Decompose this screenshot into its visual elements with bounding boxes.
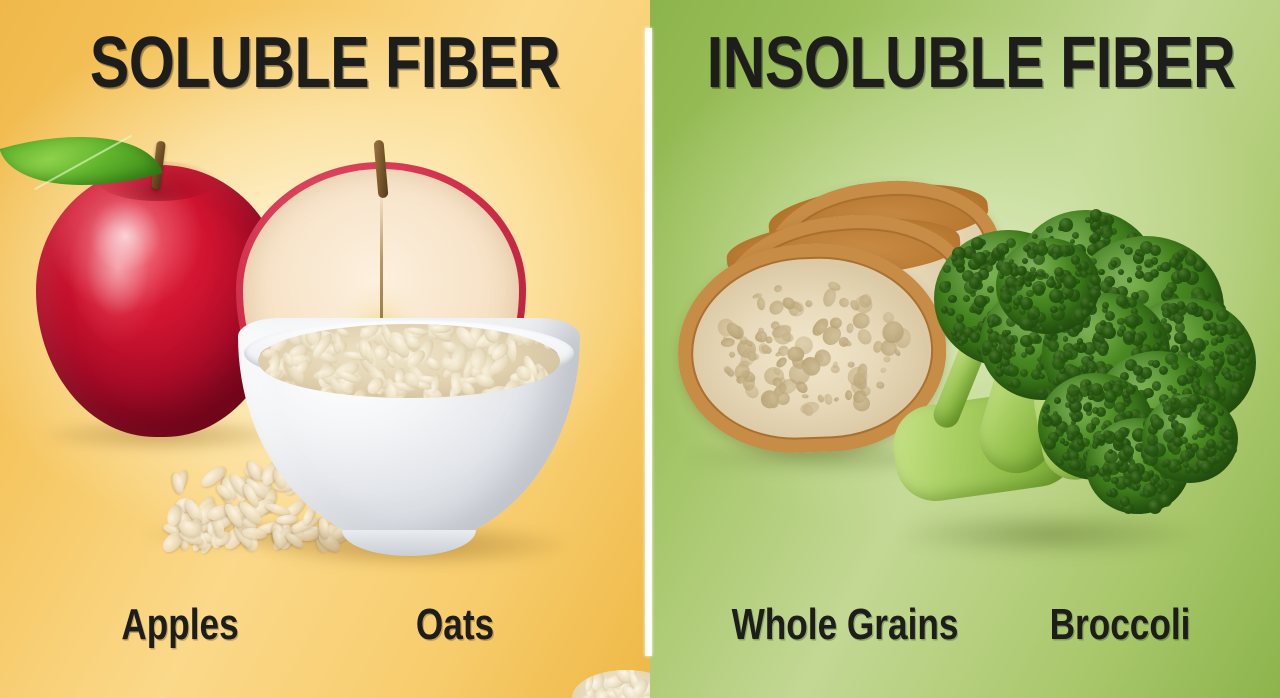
broccoli-bud — [1071, 255, 1080, 264]
label-whole-grains: Whole Grains — [713, 600, 977, 650]
broccoli-bud — [947, 308, 955, 316]
broccoli-bud — [1111, 477, 1118, 484]
broccoli-bud — [985, 263, 994, 272]
spoon-oatmeal-heap — [572, 670, 650, 698]
broccoli-bud — [1144, 259, 1154, 269]
broccoli-bud — [1034, 312, 1040, 318]
broccoli-bud — [1013, 298, 1021, 306]
fiber-comparison-infographic: SOLUBLE FIBER Apples Oats INSOLUBLE FIBE… — [0, 0, 1280, 698]
broccoli-bud — [1063, 350, 1073, 360]
broccoli-bud — [1150, 317, 1157, 324]
broccoli-bud — [1226, 444, 1235, 453]
broccoli-bud — [1130, 471, 1142, 483]
broccoli-bud — [1125, 315, 1138, 328]
broccoli-bud — [1055, 428, 1064, 437]
broccoli-bud — [1044, 438, 1056, 450]
broccoli-bud — [1150, 245, 1161, 256]
broccoli-bud — [1004, 305, 1012, 313]
broccoli-bud — [1171, 388, 1177, 394]
panel-divider — [645, 28, 652, 656]
broccoli-bud — [1174, 423, 1186, 435]
broccoli-bud — [1224, 373, 1232, 381]
broccoli-bud — [1058, 325, 1065, 332]
broccoli-bud — [1046, 226, 1053, 233]
broccoli-bud — [1171, 303, 1177, 309]
panel-soluble-fiber: SOLUBLE FIBER Apples Oats — [0, 0, 650, 698]
broccoli-bud — [1214, 455, 1223, 464]
broccoli-bud — [1088, 302, 1096, 310]
broccoli-bud — [989, 350, 1002, 363]
broccoli-bud — [1218, 409, 1225, 416]
broccoli-bud — [1244, 358, 1252, 366]
broccoli-bud — [1216, 309, 1229, 322]
label-apples: Apples — [92, 600, 268, 650]
oat-bit — [594, 690, 607, 698]
broccoli-bud — [1052, 253, 1059, 260]
broccoli-bud — [1123, 445, 1134, 456]
broccoli-bud — [1071, 414, 1079, 422]
broccoli-bud — [1020, 297, 1033, 310]
broccoli-bud — [1220, 425, 1227, 432]
broccoli-bud — [1067, 433, 1074, 440]
broccoli-bud — [1163, 404, 1175, 416]
broccoli-bud — [1037, 271, 1043, 277]
label-broccoli: Broccoli — [1012, 600, 1228, 650]
broccoli-bud — [1185, 443, 1192, 450]
broccoli-bud — [1120, 496, 1130, 506]
broccoli-bud — [1177, 301, 1185, 309]
panel-title-insoluble: INSOLUBLE FIBER — [707, 22, 1224, 104]
broccoli-bud — [1211, 338, 1219, 346]
broccoli-bud — [970, 332, 981, 343]
broccoli-bud — [1196, 448, 1209, 461]
broccoli-bud — [1049, 289, 1063, 303]
broccoli-bud — [1100, 225, 1113, 238]
broccoli-icon — [890, 212, 1226, 572]
broccoli-bud — [1098, 347, 1108, 357]
broccoli-bud — [1052, 357, 1065, 370]
broccoli-bud — [969, 277, 981, 289]
broccoli-bud — [1092, 442, 1099, 449]
broccoli-bud — [1067, 385, 1080, 398]
bread-crumb-hole — [831, 365, 840, 373]
broccoli-bud — [1202, 309, 1213, 320]
broccoli-bud — [1210, 329, 1217, 336]
broccoli-bud — [1157, 488, 1163, 494]
broccoli-bud — [1027, 249, 1037, 259]
broccoli-bud — [1143, 490, 1151, 498]
broccoli-bud — [1209, 430, 1215, 436]
broccoli-bud — [1104, 390, 1117, 403]
broccoli-bud — [1103, 475, 1110, 482]
broccoli-bud — [1171, 485, 1176, 490]
broccoli-bud — [1016, 266, 1026, 276]
broccoli-bud — [987, 328, 993, 334]
broccoli-bud — [1056, 459, 1063, 466]
bread-crumb-hole — [758, 327, 764, 333]
broccoli-bud — [1118, 269, 1124, 275]
broccoli-bud — [1133, 365, 1144, 376]
broccoli-bud — [1073, 343, 1080, 350]
broccoli-bud — [1233, 372, 1242, 381]
broccoli-bud — [1059, 218, 1072, 231]
broccoli-bud — [1188, 394, 1200, 406]
broccoli-bud — [1088, 395, 1093, 400]
broccoli-bud — [1106, 490, 1113, 497]
broccoli-bud — [1244, 345, 1252, 353]
broccoli-bud — [948, 295, 957, 304]
broccoli-bud — [1039, 390, 1045, 396]
broccoli-bud — [1087, 270, 1092, 275]
broccoli-bud — [1230, 387, 1242, 399]
broccoli-bud — [1205, 414, 1219, 428]
broccoli-bud — [1218, 351, 1224, 357]
broccoli-bud — [1147, 434, 1159, 446]
broccoli-bud — [1182, 408, 1192, 418]
broccoli-bud — [1080, 270, 1088, 278]
broccoli-bud — [1192, 465, 1201, 474]
broccoli-bud — [1020, 317, 1034, 331]
broccoli-bud — [1148, 500, 1162, 514]
broccoli-bud — [1215, 324, 1228, 337]
broccoli-bud — [1127, 277, 1133, 283]
broccoli-bud — [995, 368, 1004, 377]
broccoli-bud — [956, 314, 964, 322]
broccoli-bud — [1173, 313, 1184, 324]
oat-bowl-icon — [238, 318, 580, 572]
broccoli-bud — [1232, 333, 1239, 340]
broccoli-bud — [1063, 275, 1077, 289]
broccoli-bud — [1124, 247, 1132, 255]
broccoli-bud — [939, 281, 951, 293]
broccoli-bud — [943, 265, 950, 272]
bread-crumb-hole — [848, 361, 855, 367]
oatmeal-porridge — [258, 324, 560, 398]
broccoli-bud — [999, 262, 1013, 276]
broccoli-bud — [1225, 347, 1233, 355]
broccoli-bud — [1028, 332, 1040, 344]
broccoli-bud — [987, 286, 994, 293]
broccoli-bud — [1156, 339, 1163, 346]
broccoli-bud — [1077, 439, 1084, 446]
bread-crumb-hole — [765, 335, 773, 343]
broccoli-bud — [1210, 448, 1216, 454]
broccoli-bud — [1020, 369, 1028, 377]
broccoli-bud — [1138, 251, 1145, 258]
broccoli-bud — [1186, 366, 1197, 377]
bread-crumb-hole — [883, 356, 890, 362]
broccoli-bud — [1197, 430, 1205, 438]
broccoli-bud — [1103, 430, 1112, 439]
broccoli-bud — [1007, 365, 1019, 377]
broccoli-bud — [1126, 385, 1136, 395]
broccoli-bud — [1008, 287, 1017, 296]
broccoli-bud — [1099, 215, 1108, 224]
broccoli-bud — [1227, 426, 1234, 433]
broccoli-bud — [1203, 404, 1209, 410]
broccoli-bud — [1046, 278, 1056, 288]
broccoli-bud — [1171, 362, 1179, 370]
broccoli-bud — [1209, 351, 1219, 361]
panel-title-soluble: SOLUBLE FIBER — [59, 22, 592, 104]
broccoli-bud — [1089, 288, 1101, 300]
broccoli-bud — [1114, 430, 1126, 442]
broccoli-bud — [1213, 366, 1220, 373]
broccoli-bud — [1116, 295, 1128, 307]
broccoli-bud — [963, 295, 970, 302]
label-oats: Oats — [367, 600, 543, 650]
broccoli-drop-shadow — [900, 512, 1200, 556]
